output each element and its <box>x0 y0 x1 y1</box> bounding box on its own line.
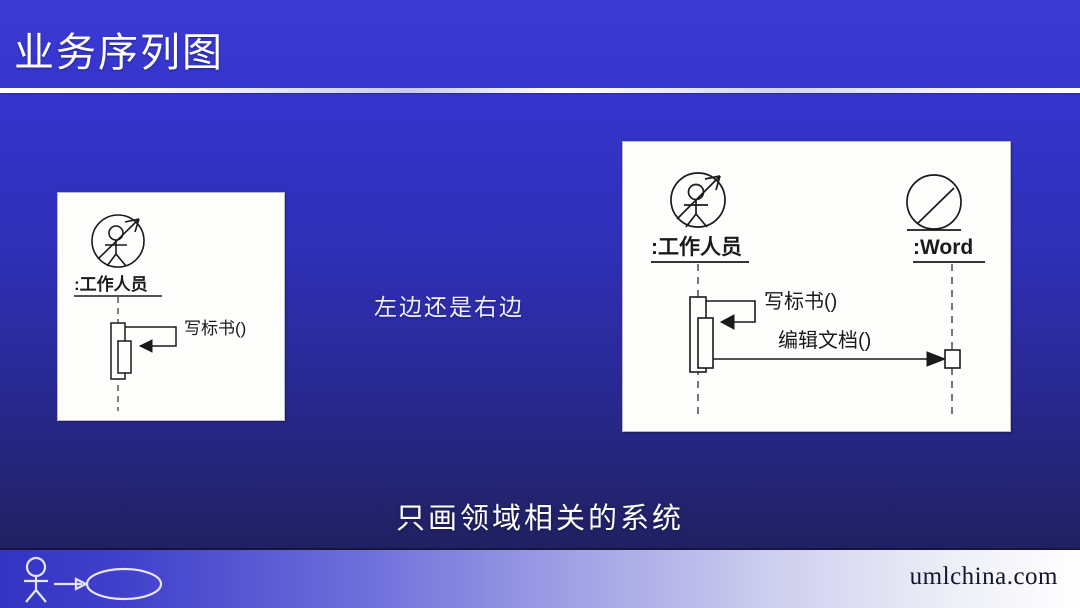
self-call-arrowhead <box>721 315 734 329</box>
caption-middle: 左边还是右边 <box>374 288 524 322</box>
message-label-call: 编辑文档() <box>778 329 871 352</box>
lifeline-label-actor: :工作人员 <box>74 274 148 294</box>
message-label-self: 写标书() <box>764 290 837 313</box>
caption-bottom: 只画领域相关的系统 <box>0 495 1080 537</box>
business-actor-icon <box>92 215 144 267</box>
business-actor-icon <box>671 173 725 227</box>
footer-bar: umlchina.com <box>0 548 1080 608</box>
usecase-actor-icon <box>14 554 174 604</box>
activation-bar-inner <box>118 341 131 373</box>
message-label-self: 写标书() <box>184 319 246 338</box>
activation-bar-inner <box>698 318 713 368</box>
page-title: 业务序列图 <box>14 20 224 78</box>
footer-url: umlchina.com <box>910 563 1058 591</box>
sequence-diagram-left: :工作人员 写标书() <box>58 193 284 420</box>
diagram-left-panel: :工作人员 写标书() <box>57 192 285 421</box>
diagram-right-panel: :工作人员 :Word 写标书() 编辑文档() <box>622 141 1011 432</box>
lifeline-label-actor: :工作人员 <box>651 235 742 259</box>
call-message-arrowhead <box>927 352 945 366</box>
lifeline-label-word: :Word <box>913 236 973 259</box>
business-worker-icon <box>907 175 961 230</box>
slide: 业务序列图 :工作人员 <box>0 0 1080 608</box>
title-divider <box>0 88 1080 93</box>
sequence-diagram-right: :工作人员 :Word 写标书() 编辑文档() <box>623 142 1010 431</box>
self-call-arrowhead <box>140 340 152 352</box>
activation-bar-word <box>945 350 960 368</box>
